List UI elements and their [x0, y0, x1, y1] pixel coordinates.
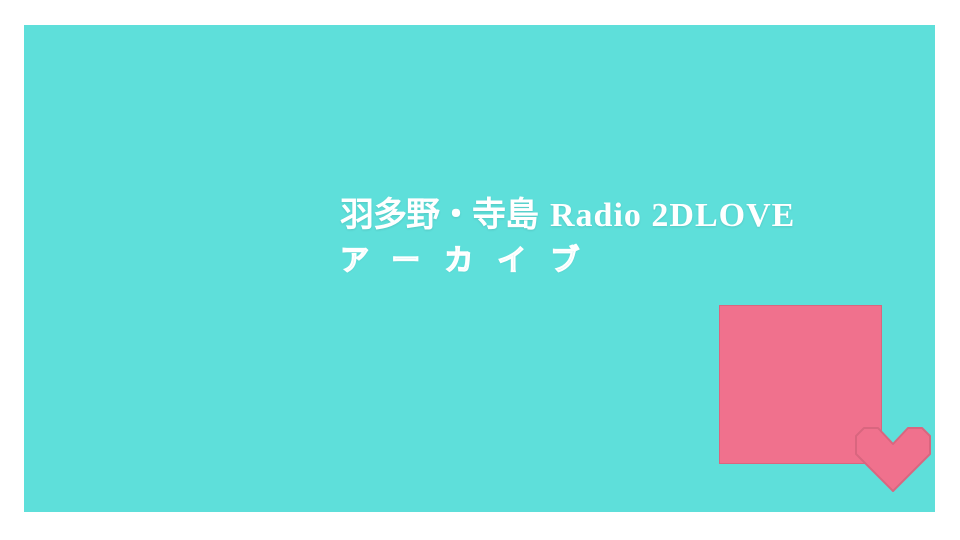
- program-title-jp: 羽多野・寺島: [340, 197, 538, 234]
- title-block: 羽多野・寺島Radio 2DLOVE アーカイブ: [340, 196, 880, 280]
- pink-heart-icon: [850, 421, 936, 496]
- program-title: 羽多野・寺島Radio 2DLOVE: [340, 196, 880, 236]
- subtitle-archive: アーカイブ: [340, 242, 880, 280]
- slide-canvas: 羽多野・寺島Radio 2DLOVE アーカイブ: [0, 0, 960, 540]
- heart-icon: [850, 421, 936, 496]
- program-title-en: Radio 2DLOVE: [538, 197, 795, 234]
